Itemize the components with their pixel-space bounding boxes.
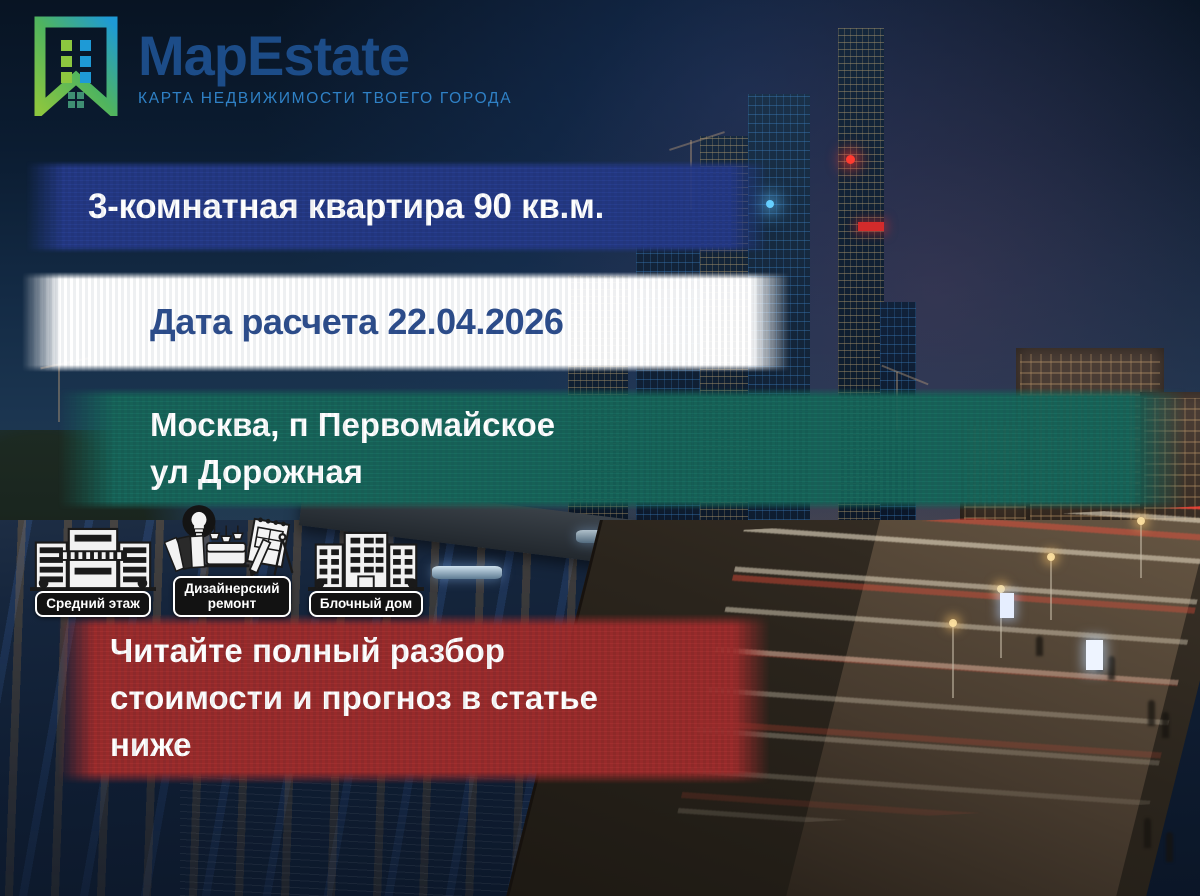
badge-block-house: Блочный дом	[308, 523, 424, 618]
pedestrian	[1162, 712, 1169, 738]
property-title-text: 3-комнатная квартира 90 кв.м.	[88, 187, 604, 227]
cta-line-1: Читайте полный разбор	[110, 628, 598, 675]
cta-line-3: ниже	[110, 722, 598, 769]
pedestrian	[1144, 818, 1151, 848]
pedestrian	[1148, 700, 1155, 726]
billboard	[1086, 640, 1103, 670]
badge-middle-floor: Средний этаж	[30, 523, 156, 618]
pedestrian	[1036, 636, 1043, 656]
river-boat	[432, 566, 502, 579]
address-line-1: Москва, п Первомайское	[150, 402, 555, 449]
street-lamp	[952, 622, 954, 698]
beacon-light	[858, 222, 884, 231]
property-title-banner: 3-комнатная квартира 90 кв.м.	[26, 161, 768, 253]
pedestrian	[1108, 656, 1115, 680]
pedestrian	[1166, 832, 1173, 862]
address-banner: Москва, п Первомайское ул Дорожная	[58, 388, 1186, 510]
block-house-icon	[308, 523, 424, 595]
badge-designer-renovation: Дизайнерский ремонт	[164, 508, 300, 617]
badge-label: Блочный дом	[309, 591, 423, 618]
address-line-2: ул Дорожная	[150, 449, 555, 496]
billboard	[1000, 593, 1014, 618]
feature-badges: Средний этаж	[30, 508, 424, 617]
apartment-building-icon	[30, 523, 156, 595]
bookmark-building-icon	[30, 16, 122, 116]
brand-name: MapEstate	[138, 28, 512, 84]
street-lamp	[1050, 556, 1052, 620]
badge-label: Дизайнерский ремонт	[173, 576, 290, 617]
cta-line-2: стоимости и прогноз в статье	[110, 675, 598, 722]
street-lamp	[1140, 520, 1142, 578]
interior-design-icon	[164, 508, 300, 580]
beacon-light	[846, 155, 855, 164]
calculation-date-text: Дата расчета 22.04.2026	[150, 301, 564, 343]
calculation-date-banner: Дата расчета 22.04.2026	[22, 272, 790, 372]
badge-label: Средний этаж	[35, 591, 151, 618]
brand-header: MapEstate КАРТА НЕДВИЖИМОСТИ ТВОЕГО ГОРО…	[30, 16, 512, 116]
cta-banner: Читайте полный разбор стоимости и прогно…	[58, 614, 770, 784]
brand-tagline: КАРТА НЕДВИЖИМОСТИ ТВОЕГО ГОРОДА	[138, 90, 512, 108]
